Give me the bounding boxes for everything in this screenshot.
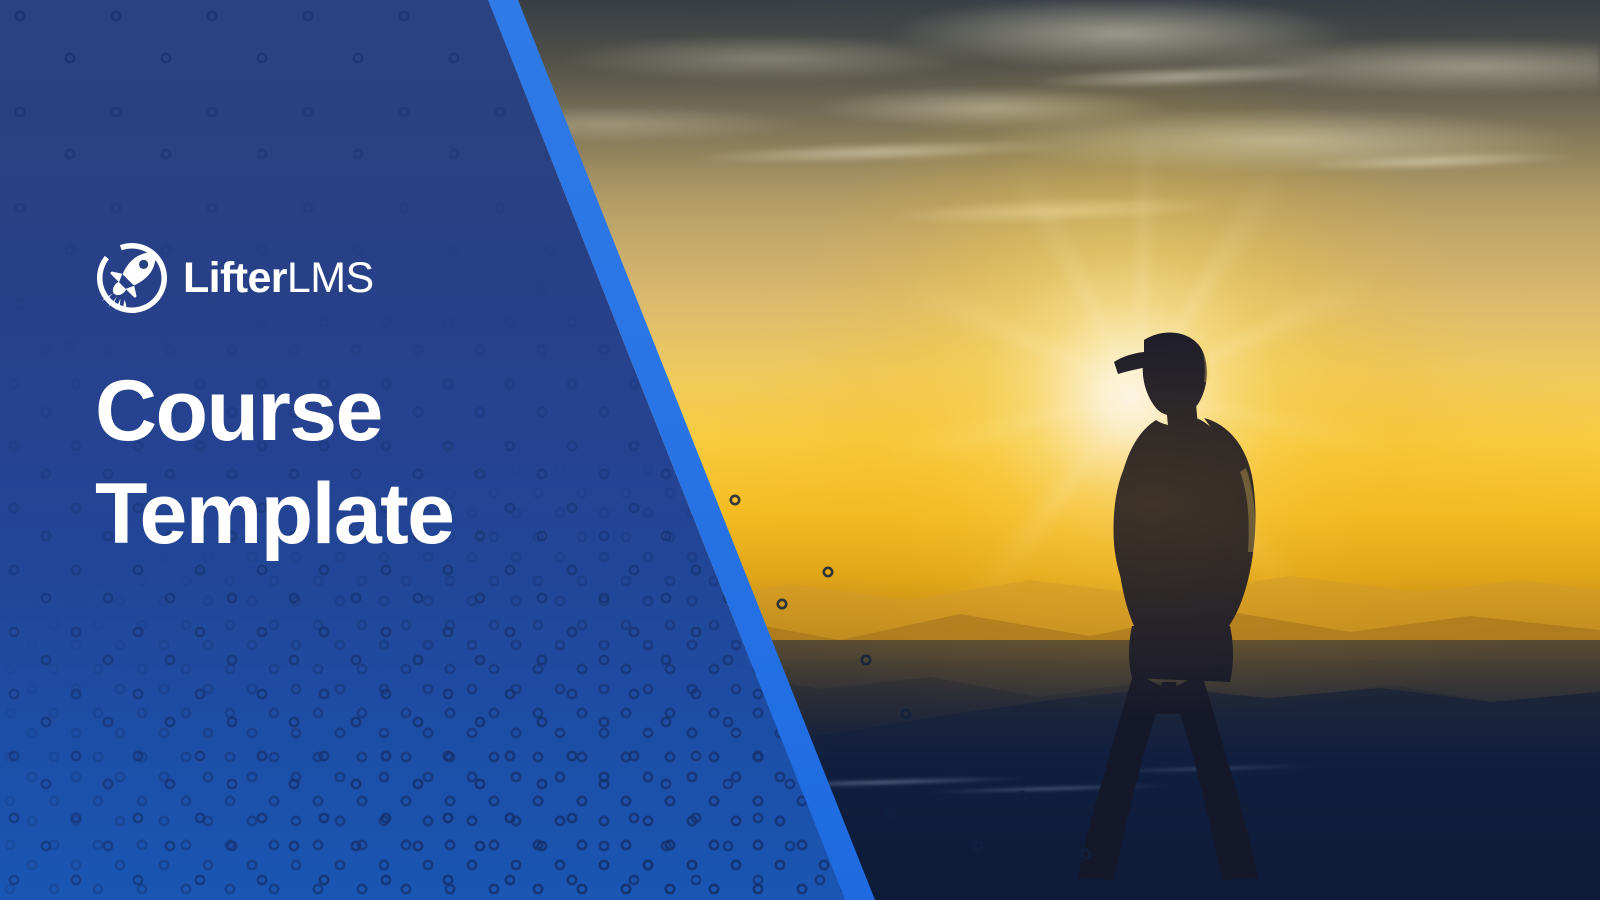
- brand-logo[interactable]: LifterLMS: [95, 240, 565, 316]
- brand-name-bold: Lifter: [183, 254, 287, 302]
- rocket-in-circle-icon: [95, 241, 169, 315]
- banner-content: LifterLMS Course Template: [95, 240, 565, 566]
- page-title-line-2: Template: [95, 463, 565, 566]
- page-title-line-1: Course: [95, 360, 565, 463]
- hiker-silhouette-icon: [1070, 300, 1300, 880]
- course-template-banner: LifterLMS Course Template: [0, 0, 1600, 900]
- page-title: Course Template: [95, 360, 565, 566]
- brand-wordmark: LifterLMS: [183, 257, 374, 300]
- brand-name-light: LMS: [287, 254, 374, 302]
